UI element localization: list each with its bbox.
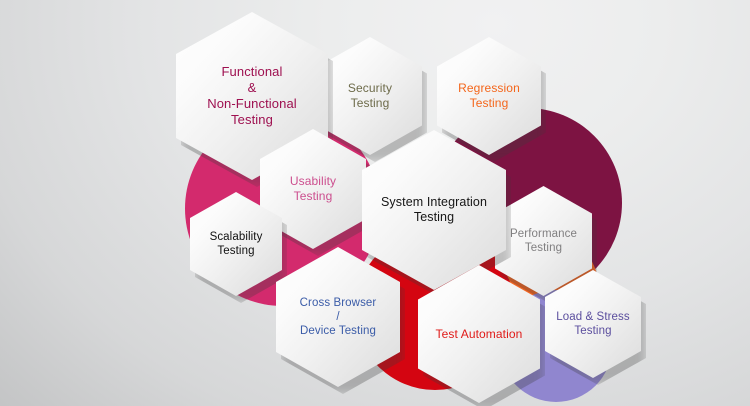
hexagon-diagram-canvas: Security Testing Regression Testing Func… bbox=[0, 0, 750, 406]
hex-label-regression-testing: Regression Testing bbox=[452, 81, 526, 110]
hex-label-system-integration-testing: System Integration Testing bbox=[375, 195, 493, 226]
hex-label-functional-non-functional-testing: Functional & Non-Functional Testing bbox=[201, 64, 303, 127]
hex-test-automation[interactable]: Test Automation bbox=[418, 265, 540, 403]
hex-label-test-automation: Test Automation bbox=[430, 327, 529, 342]
hex-load-stress-testing[interactable]: Load & Stress Testing bbox=[545, 270, 641, 378]
hex-label-scalability-testing: Scalability Testing bbox=[204, 230, 269, 258]
hex-scalability-testing[interactable]: Scalability Testing bbox=[190, 192, 282, 296]
hex-label-cross-browser-device-testing: Cross Browser / Device Testing bbox=[294, 296, 383, 338]
hex-label-usability-testing: Usability Testing bbox=[284, 174, 342, 203]
hex-label-security-testing: Security Testing bbox=[342, 81, 398, 110]
hex-cross-browser-device-testing[interactable]: Cross Browser / Device Testing bbox=[276, 247, 400, 387]
hex-label-load-stress-testing: Load & Stress Testing bbox=[550, 310, 636, 338]
hex-label-performance-testing: Performance Testing bbox=[504, 227, 583, 255]
